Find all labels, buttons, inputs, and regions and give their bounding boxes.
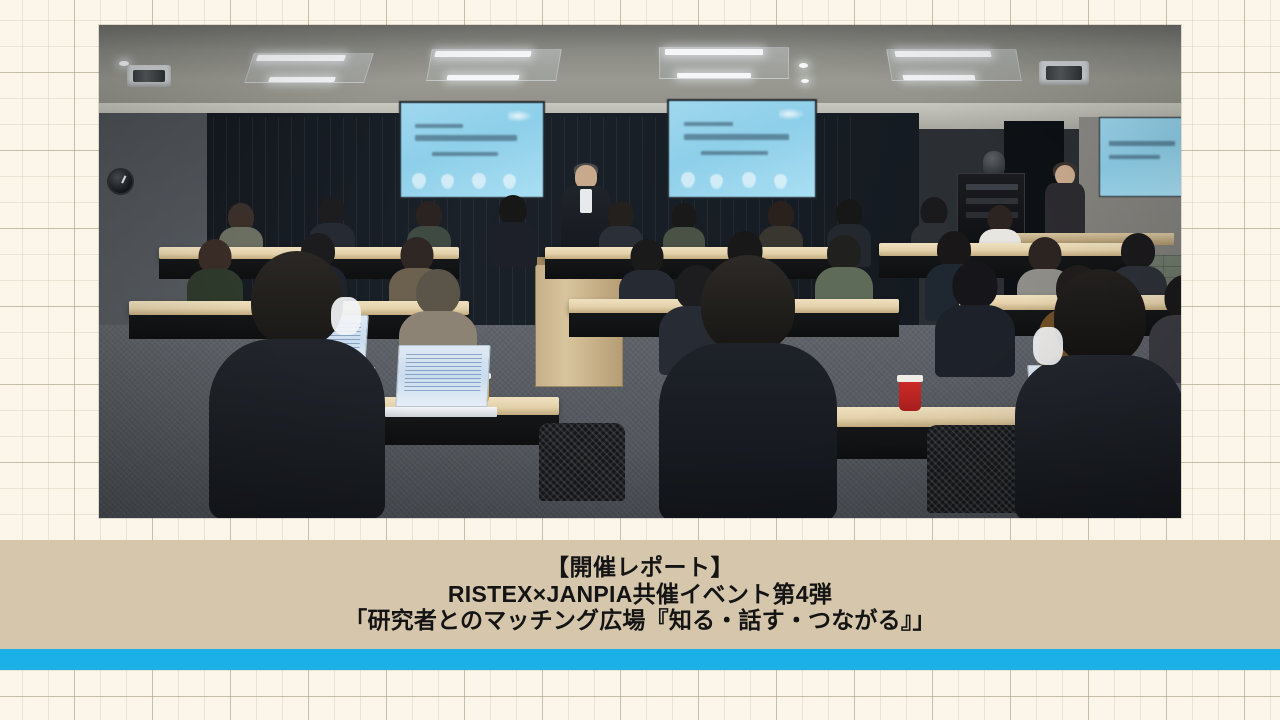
chair — [539, 423, 625, 501]
ceiling-projector — [1039, 61, 1089, 85]
laptop-screen-foreground — [395, 345, 490, 407]
seminar-room-photo — [99, 25, 1181, 518]
ceiling-light — [256, 55, 346, 61]
projection-screen-far-right — [1099, 117, 1181, 197]
av-equipment — [983, 151, 1005, 175]
wall-clock-icon — [107, 168, 134, 195]
attendee — [935, 261, 1015, 377]
attendee-foreground-center — [659, 255, 837, 518]
slide-logo — [508, 110, 534, 122]
ceiling-light — [894, 51, 991, 57]
attendee-foreground-right — [1015, 269, 1181, 518]
ceiling-light — [268, 77, 336, 82]
coffee-cup — [899, 379, 921, 411]
caption-line-1: 【開催レポート】 — [546, 555, 734, 581]
moderator-figure — [1045, 165, 1085, 237]
caption-band: 【開催レポート】 RISTEX×JANPIA共催イベント第4弾 「研究者とのマッ… — [0, 540, 1280, 649]
caption-line-3: 「研究者とのマッチング広場『知る・話す・つながる』」 — [344, 608, 935, 634]
page-background: 【開催レポート】 RISTEX×JANPIA共催イベント第4弾 「研究者とのマッ… — [0, 0, 1280, 720]
slide-logo — [779, 108, 805, 120]
ceiling-downlight — [799, 63, 808, 68]
attendee — [489, 195, 537, 267]
laptop-base-foreground — [385, 407, 497, 417]
ceiling-light — [677, 73, 751, 78]
ceiling-light — [446, 75, 519, 80]
ceiling-light — [434, 51, 531, 57]
attendee-foreground-left — [209, 251, 385, 518]
desk — [879, 243, 1139, 256]
projection-screen-left — [399, 101, 545, 199]
ceiling-light — [665, 49, 763, 55]
ceiling-light — [902, 75, 975, 80]
ceiling-projector — [127, 65, 171, 87]
projection-screen-right — [667, 99, 817, 199]
ceiling-downlight — [801, 79, 809, 83]
caption-line-2: RISTEX×JANPIA共催イベント第4弾 — [448, 582, 832, 608]
accent-bar — [0, 649, 1280, 670]
